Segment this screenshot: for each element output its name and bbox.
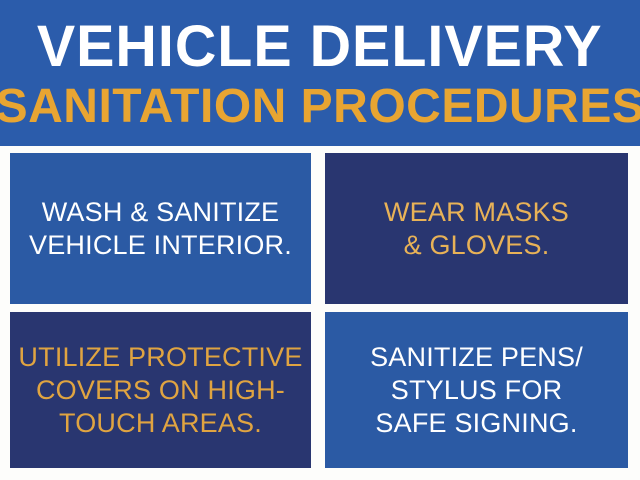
- procedure-card-line: SANITIZE PENS/: [370, 341, 583, 374]
- procedure-card-line: STYLUS FOR: [370, 374, 583, 407]
- procedure-card-wash-sanitize-interior: WASH & SANITIZE VEHICLE INTERIOR.: [10, 153, 311, 304]
- procedures-grid: WASH & SANITIZE VEHICLE INTERIOR. WEAR M…: [10, 153, 628, 468]
- procedure-card-line: WEAR MASKS: [384, 196, 569, 229]
- procedure-card-line: TOUCH AREAS.: [18, 407, 302, 440]
- procedure-card-protective-covers: UTILIZE PROTECTIVE COVERS ON HIGH- TOUCH…: [10, 312, 311, 468]
- procedure-card-sanitize-pens-stylus: SANITIZE PENS/ STYLUS FOR SAFE SIGNING.: [325, 312, 628, 468]
- poster-header: VEHICLE DELIVERY SANITATION PROCEDURES: [0, 0, 640, 146]
- procedure-card-line: VEHICLE INTERIOR.: [29, 229, 292, 262]
- poster-title: VEHICLE DELIVERY: [37, 18, 603, 76]
- procedure-card-line: SAFE SIGNING.: [370, 407, 583, 440]
- poster: VEHICLE DELIVERY SANITATION PROCEDURES W…: [0, 0, 640, 480]
- procedure-card-line: & GLOVES.: [384, 229, 569, 262]
- procedure-card-wear-masks-gloves: WEAR MASKS & GLOVES.: [325, 153, 628, 304]
- procedure-card-line: COVERS ON HIGH-: [18, 374, 302, 407]
- poster-subtitle: SANITATION PROCEDURES: [0, 83, 640, 131]
- procedure-card-text: WASH & SANITIZE VEHICLE INTERIOR.: [29, 196, 292, 262]
- procedure-card-text: SANITIZE PENS/ STYLUS FOR SAFE SIGNING.: [370, 341, 583, 440]
- procedure-card-text: UTILIZE PROTECTIVE COVERS ON HIGH- TOUCH…: [18, 341, 302, 440]
- procedure-card-text: WEAR MASKS & GLOVES.: [384, 196, 569, 262]
- procedure-card-line: UTILIZE PROTECTIVE: [18, 341, 302, 374]
- procedure-card-line: WASH & SANITIZE: [29, 196, 292, 229]
